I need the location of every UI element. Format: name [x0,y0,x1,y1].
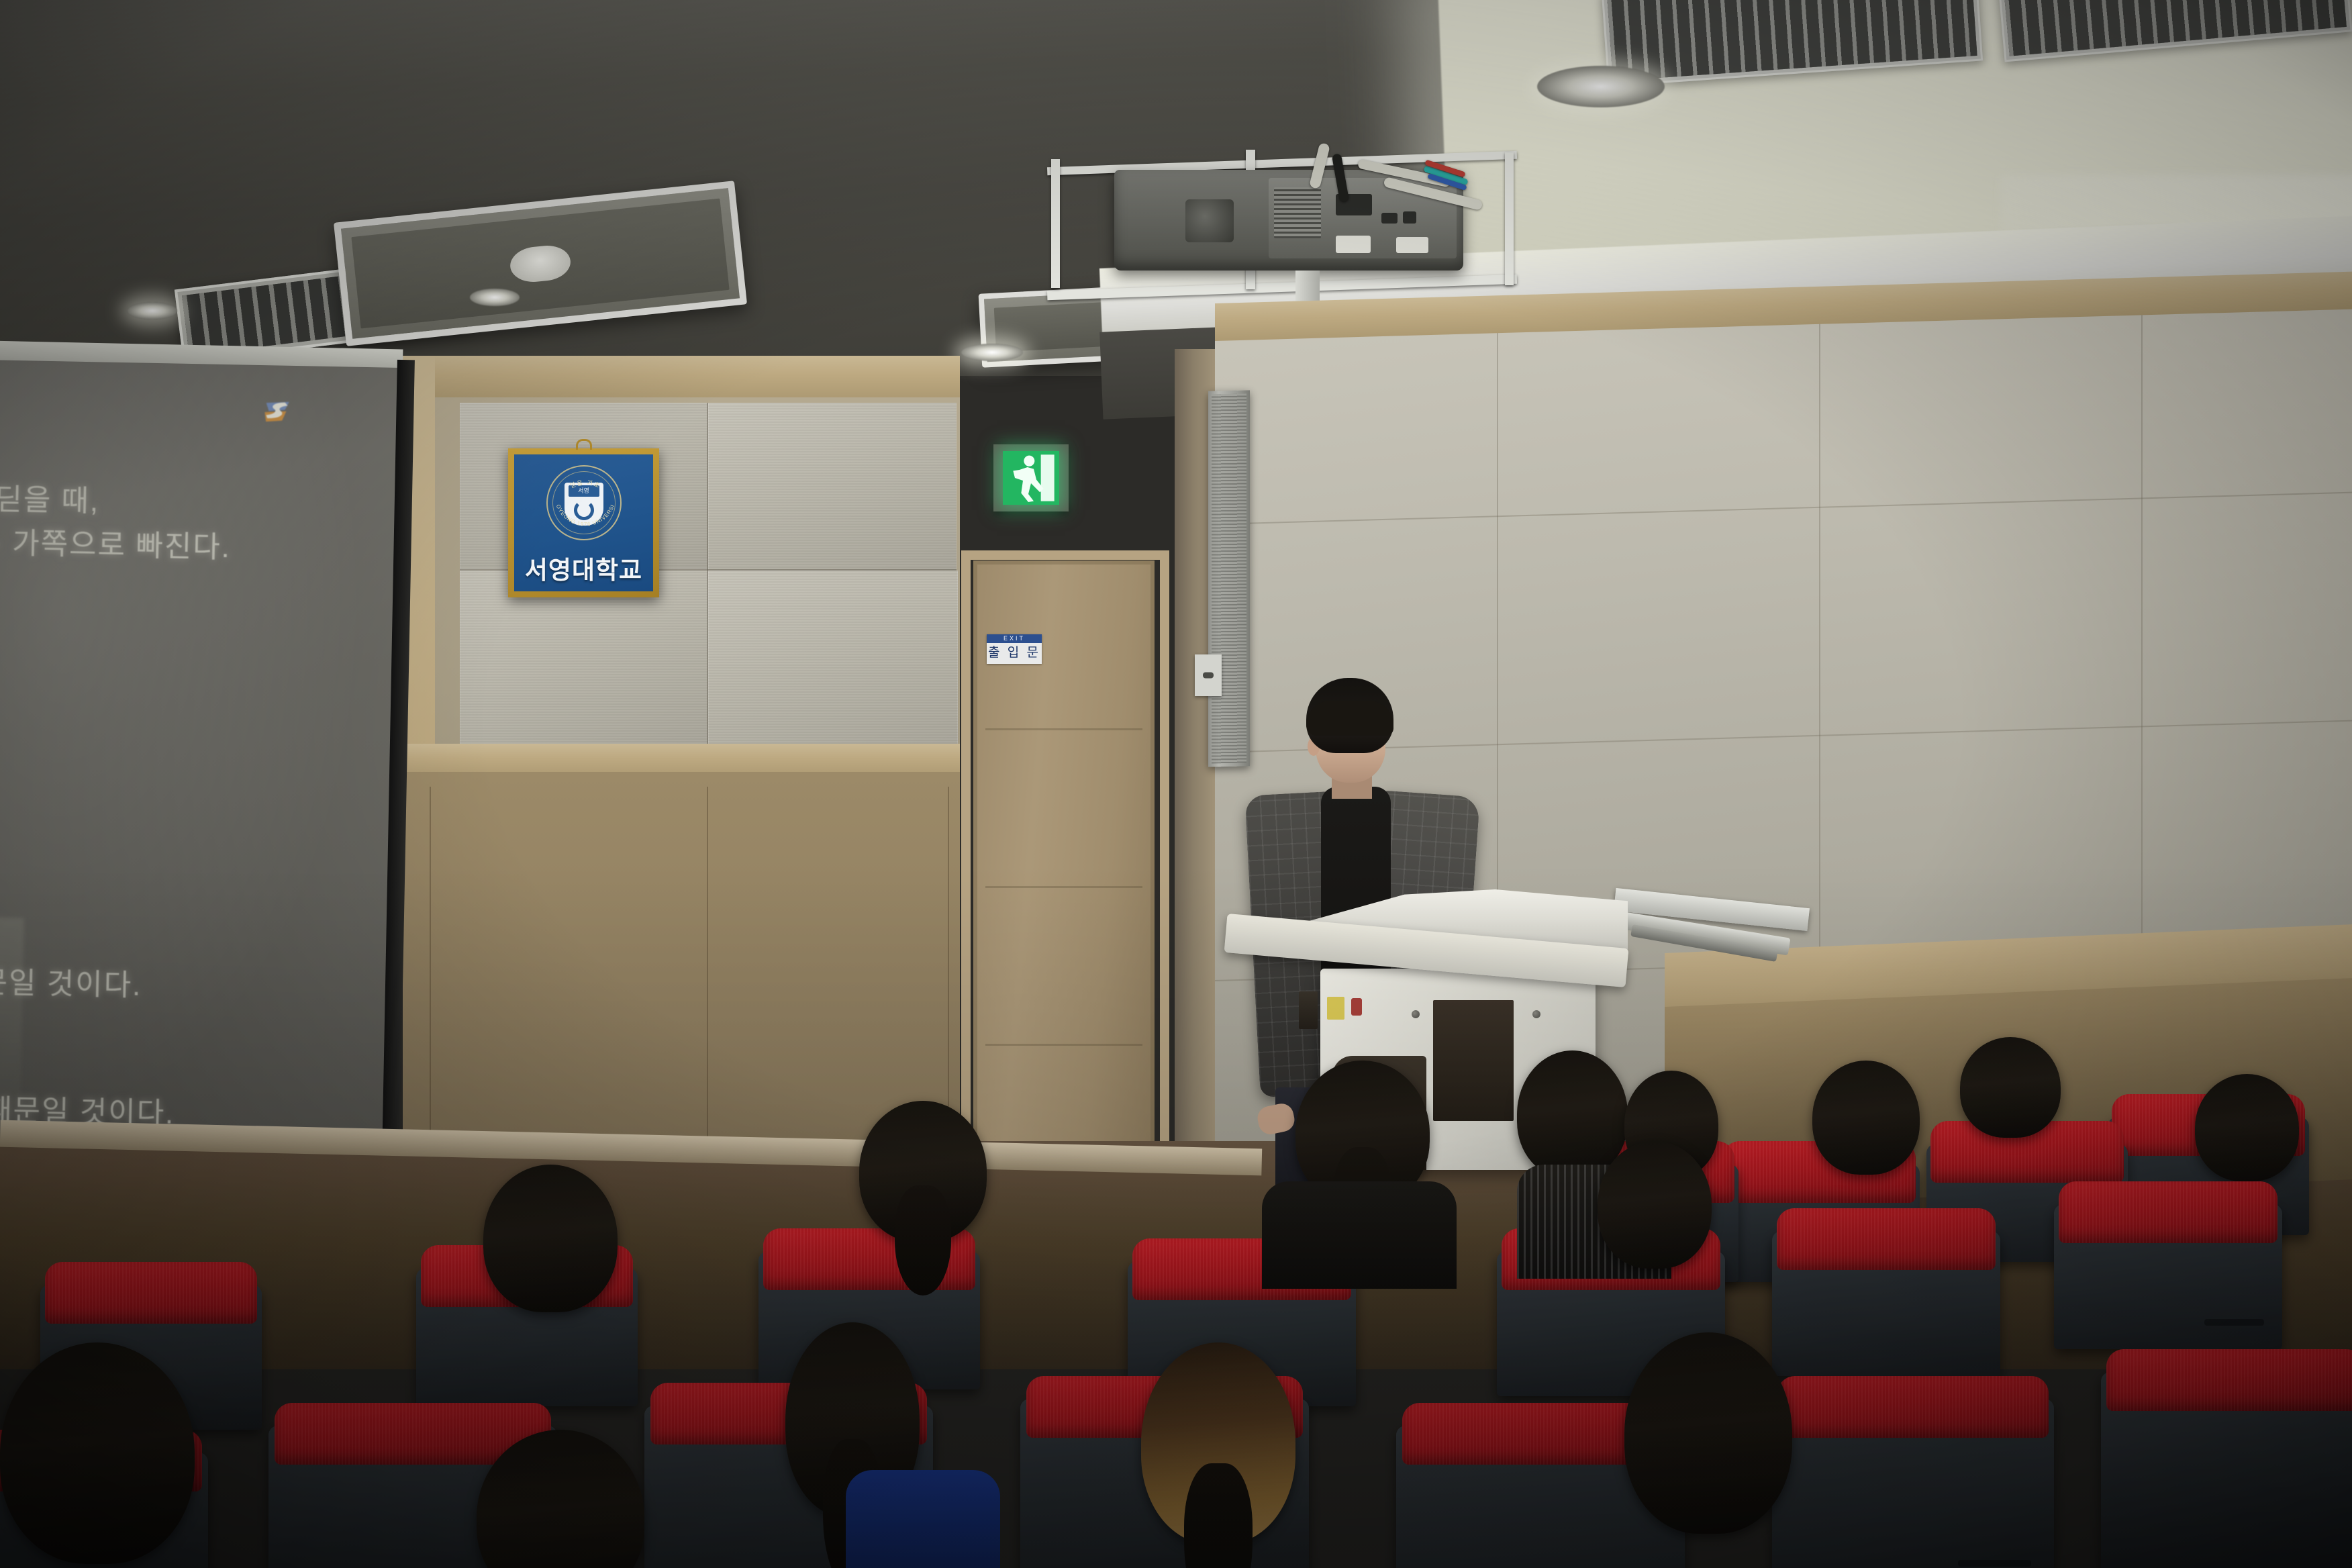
acoustic-panel [708,403,957,571]
downlight [470,289,520,306]
door-sign-en: EXIT [987,634,1042,643]
audience-head [1141,1342,1295,1544]
audience-head [1960,1037,2061,1138]
projection-screen: 내딛을 때, 뒤 · 가쪽으로 빠진다. 때문일 것이다. 화 때문일 것이다. [0,360,411,1193]
seat-arm-notch [2204,1319,2263,1326]
university-seal: 서영 믿음 기초 SEOYEONG 1976 UNIVERSITY [546,465,622,540]
plaque-hanger [576,439,592,450]
speaker-grill [1212,393,1246,763]
audience-head [859,1101,987,1242]
slide-line-1: 내딛을 때, [0,481,100,520]
projection-screen-assembly: 내딛을 때, 뒤 · 가쪽으로 빠진다. 때문일 것이다. 화 때문일 것이다. [0,349,416,1222]
audience-head [1624,1332,1792,1534]
projector-port [1381,213,1398,224]
audience-head [1812,1061,1920,1175]
acoustic-panel [708,571,958,746]
seal-arc-text: 믿음 기초 SEOYEONG 1976 UNIVERSITY [548,467,623,542]
seat[interactable] [2101,1349,2352,1568]
projector-lens [1185,199,1234,242]
door-panel-line [985,728,1142,730]
slide-logo-icon [262,397,293,425]
exit-sign-lit-panel [1003,451,1059,505]
downlight [128,302,177,320]
seat-headrest [2059,1181,2277,1243]
audience-shoulders [1262,1181,1457,1289]
audience-head [483,1165,618,1312]
audience-head [1517,1050,1628,1178]
door-sign-kr: 출 입 문 [987,643,1042,663]
slide-line-2: 뒤 · 가쪽으로 빠진다. [0,524,231,566]
projector-port [1336,236,1371,253]
svg-text:믿음 기초: 믿음 기초 [569,479,601,489]
svg-text:SEOYEONG 1976 UNIVERSITY: SEOYEONG 1976 UNIVERSITY [548,467,616,528]
lectern-screw [1532,1010,1540,1018]
seat-arm-notch [1958,1560,2031,1567]
plaque-university-name: 서영대학교 [514,550,653,586]
wainscot-rail [403,744,960,776]
switch-knob[interactable] [1203,673,1214,679]
slide-line-3: 때문일 것이다. [0,963,142,1003]
projector-port [1396,237,1428,253]
projector-mount-cage [1047,144,1517,312]
seat[interactable] [1772,1208,2000,1376]
wall-switch-plate[interactable] [1195,654,1222,696]
lectern-slot [1299,991,1318,1029]
seat-headrest [45,1262,258,1324]
wall-seam [1215,492,2352,525]
downlight [1537,66,1665,107]
door-exit-sign: EXIT 출 입 문 [987,634,1042,664]
audience-head [0,1342,195,1564]
university-plaque: 서영 믿음 기초 SEOYEONG 1976 UNIVERSITY [508,448,659,597]
column-speaker [1208,390,1250,767]
cage-post-right [1505,152,1514,285]
audience-shoulders [846,1470,1000,1568]
panel-seam [707,403,708,746]
seat-headrest [2106,1349,2352,1411]
running-man-icon [1003,451,1059,505]
emergency-exit-sign [993,444,1069,511]
wainscot-lower [403,772,960,1175]
lectern-power-button[interactable] [1351,998,1362,1016]
lectern-label [1327,997,1344,1020]
projector-vent [1274,187,1321,238]
side-equipment-bracket [1614,898,1809,972]
wall-frame-top [403,356,960,397]
wainscot-seam [430,787,431,1163]
door-panel-line [985,1044,1142,1046]
door-panel-line [985,886,1142,888]
cage-post-left [1051,159,1060,288]
audience-head [1598,1141,1712,1269]
seat[interactable] [1772,1376,2054,1568]
seat-headrest [1777,1376,2048,1438]
lectern-equipment-bay [1433,1000,1514,1121]
seat[interactable] [2054,1181,2282,1349]
lectern-screw [1412,1010,1420,1018]
audience-head [2195,1074,2299,1181]
downlight [961,344,1023,361]
projector-port [1403,211,1416,224]
seat-headrest [1777,1208,1996,1270]
wainscot-seam [707,787,708,1163]
presenter-fringe [1306,701,1393,736]
plaque-field: 서영 믿음 기초 SEOYEONG 1976 UNIVERSITY [514,454,653,591]
lecture-hall-photo: 서영 믿음 기초 SEOYEONG 1976 UNIVERSITY [0,0,2352,1568]
